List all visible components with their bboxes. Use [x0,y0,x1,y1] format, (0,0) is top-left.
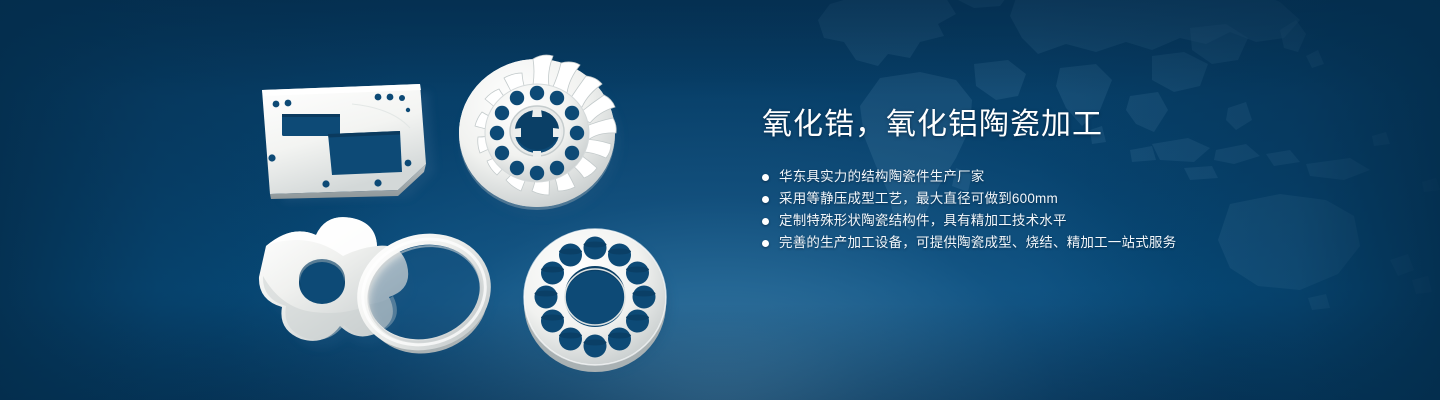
bullet-dot-icon [762,218,769,225]
ceramic-mounting-plate [262,84,435,202]
banner-copy: 氧化锆，氧化铝陶瓷加工 华东具实力的结构陶瓷件生产厂家 采用等静压成型工艺，最大… [762,106,1382,254]
bullet-dot-icon [762,174,769,181]
list-item-label: 华东具实力的结构陶瓷件生产厂家 [779,166,985,188]
list-item-label: 定制特殊形状陶瓷结构件，具有精加工技术水平 [779,210,1067,232]
page-title: 氧化锆，氧化铝陶瓷加工 [762,106,1382,144]
bullet-dot-icon [762,240,769,247]
list-item: 采用等静压成型工艺，最大直径可做到600mm [762,188,1382,210]
list-item: 华东具实力的结构陶瓷件生产厂家 [762,166,1382,188]
product-hero-banner: 氧化锆，氧化铝陶瓷加工 华东具实力的结构陶瓷件生产厂家 采用等静压成型工艺，最大… [0,0,1440,400]
ceramic-bladed-impeller [459,55,621,217]
list-item-label: 完善的生产加工设备，可提供陶瓷成型、烧结、精加工一站式服务 [779,232,1176,254]
list-item-label: 采用等静压成型工艺，最大直径可做到600mm [779,188,1058,210]
ceramic-products-image [0,0,720,400]
list-item: 完善的生产加工设备，可提供陶瓷成型、烧结、精加工一站式服务 [762,232,1382,254]
ceramic-perforated-disc [524,229,671,373]
list-item: 定制特殊形状陶瓷结构件，具有精加工技术水平 [762,210,1382,232]
feature-list: 华东具实力的结构陶瓷件生产厂家 采用等静压成型工艺，最大直径可做到600mm 定… [762,166,1382,254]
bullet-dot-icon [762,196,769,203]
